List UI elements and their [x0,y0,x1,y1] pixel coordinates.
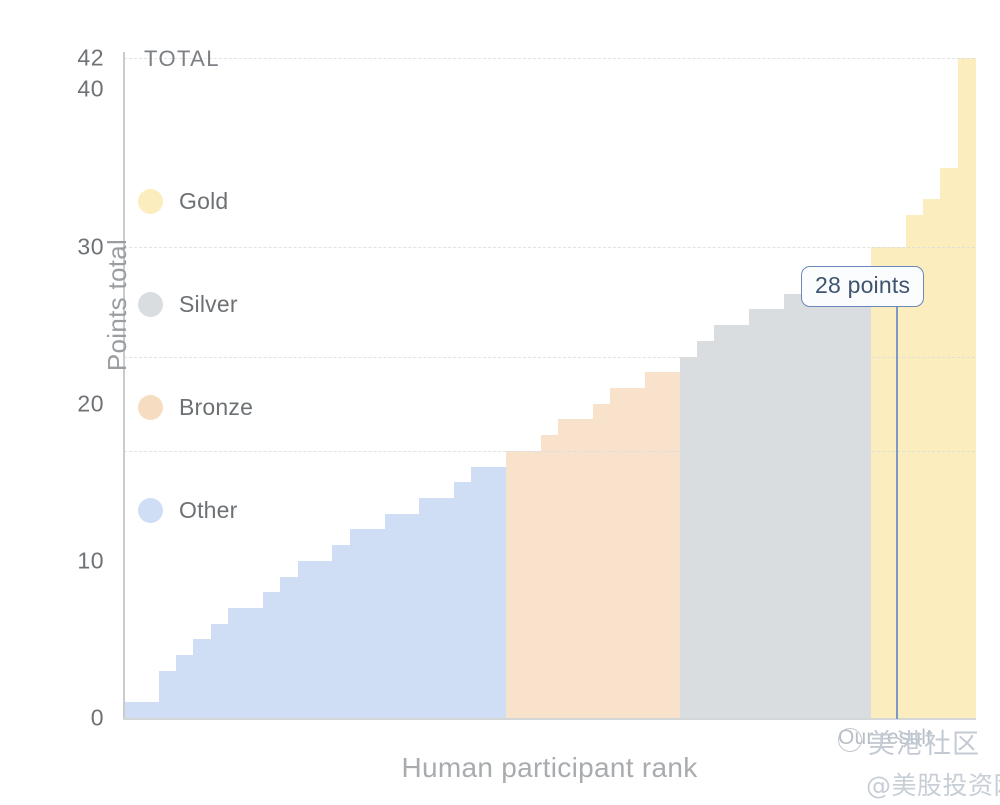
chart-step-bar [767,309,785,718]
chart-step-bar [367,529,385,718]
chart-step-bar [836,278,854,718]
chart-step-bar [211,624,229,718]
chart-step-bar [940,168,958,718]
chart-step-bar [489,467,507,718]
chart-figure: 01020304042 Points total Human participa… [0,0,1000,805]
chart-step-bar [680,357,698,718]
y-axis-tick-label: 40 [0,76,104,103]
y-axis-tick-label: 0 [0,705,104,732]
y-axis-tick-label: 30 [0,233,104,260]
chart-step-bar [714,325,732,718]
x-axis-line [123,718,976,720]
legend-item-gold[interactable]: Gold [138,188,228,215]
chart-step-bar [541,435,559,718]
chart-step-bar [471,467,489,718]
legend-swatch-icon [138,395,163,420]
legend-item-silver[interactable]: Silver [138,291,238,318]
chart-step-bar [350,529,368,718]
chart-step-bar [610,388,628,718]
rank-marker-line [896,285,898,719]
gridline [124,451,975,452]
chart-step-bar [159,671,177,718]
chart-step-bar [923,199,941,718]
chart-step-bar [280,577,298,718]
points-callout[interactable]: 28 points [801,266,924,307]
chart-step-bar [246,608,264,718]
legend-item-label: Bronze [179,394,253,421]
chart-step-bar [176,655,194,718]
watermark-chinese-top: 美港社区 [868,722,980,761]
chart-step-bar [732,325,750,718]
chart-step-bar [628,388,646,718]
plot-area [124,58,975,718]
chart-step-bar [437,498,455,718]
legend-item-other[interactable]: Other [138,497,238,524]
chart-step-bar [576,419,594,718]
chart-step-bar [454,482,472,718]
chart-step-bar [193,639,211,718]
chart-step-bar [523,451,541,718]
chart-step-bar [506,451,524,718]
chart-step-bar [558,419,576,718]
chart-step-bar [385,514,403,718]
chart-step-bar [315,561,333,718]
y-axis-title: Points total [102,155,133,455]
chart-step-bar [402,514,420,718]
legend-swatch-icon [138,292,163,317]
watermark-chinese-bottom: @美股投资网 [866,766,1000,802]
legend-item-bronze[interactable]: Bronze [138,394,253,421]
chart-step-bar [662,372,680,718]
chart-step-bar [419,498,437,718]
chart-step-bar [749,309,767,718]
chart-step-bar [332,545,350,718]
chart-step-bar [819,278,837,718]
y-axis-tick-label: 42 [0,45,104,72]
chart-step-bar [645,372,663,718]
x-axis-title: Human participant rank [124,752,975,784]
legend-item-label: Gold [179,188,228,215]
chart-step-bar [958,58,976,718]
gridline [124,58,975,59]
legend-item-label: Other [179,497,238,524]
chart-step-bar [871,247,889,718]
chart-step-bar [697,341,715,718]
y-axis-tick-label: 10 [0,547,104,574]
chart-step-bar [228,608,246,718]
chart-step-bar [124,702,142,718]
chart-step-bar [141,702,159,718]
gridline [124,357,975,358]
y-axis-tick-label: 20 [0,390,104,417]
chart-step-bar [853,278,871,718]
legend-swatch-icon [138,498,163,523]
legend-item-label: Silver [179,291,238,318]
total-label: TOTAL [144,46,220,72]
gridline [124,247,975,248]
chart-step-bar [263,592,281,718]
chart-step-bar [298,561,316,718]
legend-swatch-icon [138,189,163,214]
